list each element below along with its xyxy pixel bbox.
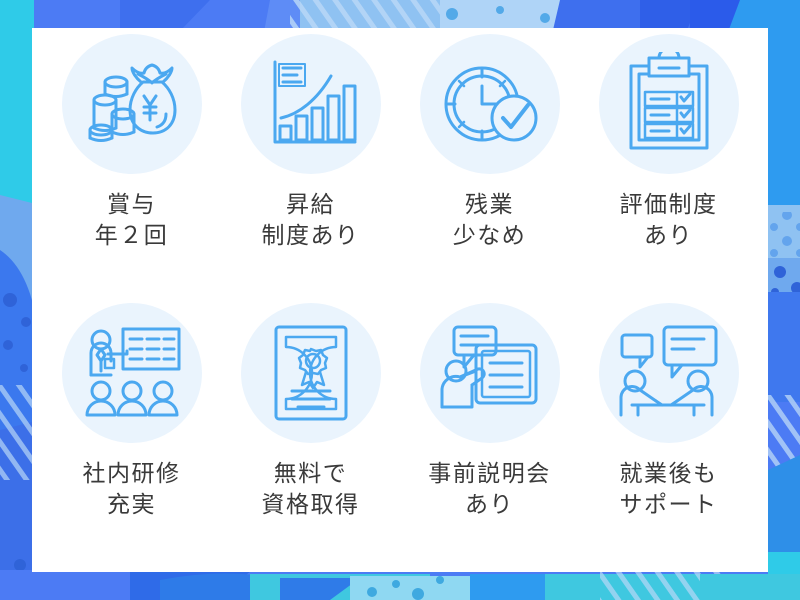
- feature-label: 昇給 制度あり: [262, 190, 360, 252]
- money-bag-coins-icon: [62, 34, 202, 174]
- feature-label: 事前説明会 あり: [428, 459, 551, 521]
- feature-card: 賞与 年２回: [32, 28, 768, 572]
- bg-dot: [3, 340, 13, 350]
- bg-dot: [3, 293, 17, 307]
- growth-bar-chart-icon: [241, 34, 381, 174]
- feature-item-training: 社内研修 充実: [42, 301, 221, 568]
- feature-item-bonus: 賞与 年２回: [42, 34, 221, 301]
- feature-item-aftercare: 就業後も サポート: [579, 301, 758, 568]
- feature-label: 無料で 資格取得: [262, 459, 360, 521]
- bg-bottom-g: [700, 574, 800, 600]
- bg-right-blue: [768, 292, 800, 402]
- feature-item-overtime: 残業 少なめ: [400, 34, 579, 301]
- bg-right-sky: [768, 0, 800, 215]
- feature-item-evaluation: 評価制度 あり: [579, 34, 758, 301]
- feature-label: 就業後も サポート: [620, 459, 718, 521]
- bg-dot: [14, 559, 26, 571]
- feature-label: 評価制度 あり: [620, 190, 718, 252]
- feature-item-certification: 無料で 資格取得: [221, 301, 400, 568]
- bg-left-cyan: [0, 0, 34, 215]
- feature-item-raise: 昇給 制度あり: [221, 34, 400, 301]
- two-people-conversation-icon: [599, 303, 739, 443]
- feature-item-briefing: 事前説明会 あり: [400, 301, 579, 568]
- clipboard-checklist-icon: [599, 34, 739, 174]
- bg-right-wave: [768, 455, 800, 560]
- feature-label: 残業 少なめ: [453, 190, 527, 252]
- trainer-whiteboard-audience-icon: [62, 303, 202, 443]
- feature-label: 賞与 年２回: [95, 190, 169, 252]
- bg-dot: [20, 364, 28, 372]
- certificate-rosette-icon: [241, 303, 381, 443]
- presenter-speech-board-icon: [420, 303, 560, 443]
- poster-canvas: 賞与 年２回: [0, 0, 800, 600]
- feature-label: 社内研修 充実: [83, 459, 181, 521]
- feature-grid: 賞与 年２回: [32, 28, 768, 572]
- bg-dot: [21, 317, 31, 327]
- clock-check-icon: [420, 34, 560, 174]
